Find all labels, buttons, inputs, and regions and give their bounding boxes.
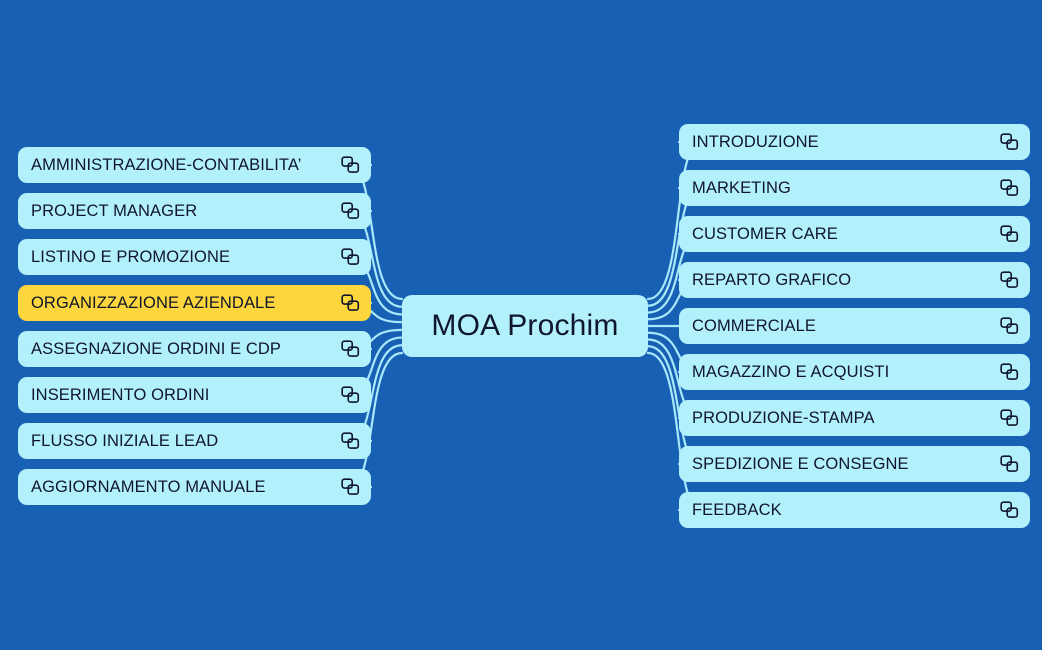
mindmap-node-left-4[interactable]: ASSEGNAZIONE ORDINI E CDP [18,331,371,367]
mindmap-node-label: PROJECT MANAGER [31,202,333,221]
mindmap-canvas: AMMINISTRAZIONE-CONTABILITA’PROJECT MANA… [0,0,1049,650]
mindmap-node-label: INTRODUZIONE [692,133,992,152]
mindmap-node-right-2[interactable]: CUSTOMER CARE [679,216,1030,252]
mindmap-node-left-5[interactable]: INSERIMENTO ORDINI [18,377,371,413]
mindmap-node-right-3[interactable]: REPARTO GRAFICO [679,262,1030,298]
duplicate-icon[interactable] [341,340,360,358]
mindmap-node-label: ASSEGNAZIONE ORDINI E CDP [31,340,333,359]
duplicate-icon[interactable] [1000,455,1019,473]
duplicate-icon[interactable] [341,432,360,450]
duplicate-icon[interactable] [341,478,360,496]
connector-edge [349,353,402,487]
center-node-label: MOA Prochim [431,309,618,343]
mindmap-node-right-5[interactable]: MAGAZZINO E ACQUISTI [679,354,1030,390]
mindmap-node-right-0[interactable]: INTRODUZIONE [679,124,1030,160]
mindmap-node-right-1[interactable]: MARKETING [679,170,1030,206]
mindmap-node-right-8[interactable]: FEEDBACK [679,492,1030,528]
mindmap-node-label: AGGIORNAMENTO MANUALE [31,478,333,497]
mindmap-node-label: INSERIMENTO ORDINI [31,386,333,405]
duplicate-icon[interactable] [341,202,360,220]
mindmap-node-left-1[interactable]: PROJECT MANAGER [18,193,371,229]
duplicate-icon[interactable] [341,156,360,174]
mindmap-node-left-6[interactable]: FLUSSO INIZIALE LEAD [18,423,371,459]
mindmap-node-left-0[interactable]: AMMINISTRAZIONE-CONTABILITA’ [18,147,371,183]
mindmap-node-label: SPEDIZIONE E CONSEGNE [692,455,992,474]
duplicate-icon[interactable] [1000,363,1019,381]
mindmap-node-label: COMMERCIALE [692,317,992,336]
center-node[interactable]: MOA Prochim [402,295,648,357]
duplicate-icon[interactable] [1000,317,1019,335]
mindmap-node-label: MAGAZZINO E ACQUISTI [692,363,992,382]
mindmap-board[interactable]: AMMINISTRAZIONE-CONTABILITA’PROJECT MANA… [0,0,1042,650]
mindmap-node-label: FLUSSO INIZIALE LEAD [31,432,333,451]
mindmap-node-right-7[interactable]: SPEDIZIONE E CONSEGNE [679,446,1030,482]
duplicate-icon[interactable] [1000,133,1019,151]
duplicate-icon[interactable] [341,386,360,404]
duplicate-icon[interactable] [1000,409,1019,427]
mindmap-node-label: FEEDBACK [692,501,992,520]
right-edge-strip [1042,0,1049,650]
duplicate-icon[interactable] [341,248,360,266]
mindmap-node-label: AMMINISTRAZIONE-CONTABILITA’ [31,156,333,175]
mindmap-node-label: REPARTO GRAFICO [692,271,992,290]
mindmap-node-label: PRODUZIONE-STAMPA [692,409,992,428]
mindmap-node-label: ORGANIZZAZIONE AZIENDALE [31,294,333,313]
mindmap-node-left-2[interactable]: LISTINO E PROMOZIONE [18,239,371,275]
duplicate-icon[interactable] [1000,271,1019,289]
mindmap-node-right-4[interactable]: COMMERCIALE [679,308,1030,344]
duplicate-icon[interactable] [1000,179,1019,197]
mindmap-node-label: MARKETING [692,179,992,198]
mindmap-node-label: CUSTOMER CARE [692,225,992,244]
duplicate-icon[interactable] [1000,501,1019,519]
mindmap-node-left-3[interactable]: ORGANIZZAZIONE AZIENDALE [18,285,371,321]
mindmap-node-right-6[interactable]: PRODUZIONE-STAMPA [679,400,1030,436]
mindmap-node-label: LISTINO E PROMOZIONE [31,248,333,267]
duplicate-icon[interactable] [1000,225,1019,243]
duplicate-icon[interactable] [341,294,360,312]
mindmap-node-left-7[interactable]: AGGIORNAMENTO MANUALE [18,469,371,505]
connector-edge [349,165,402,299]
